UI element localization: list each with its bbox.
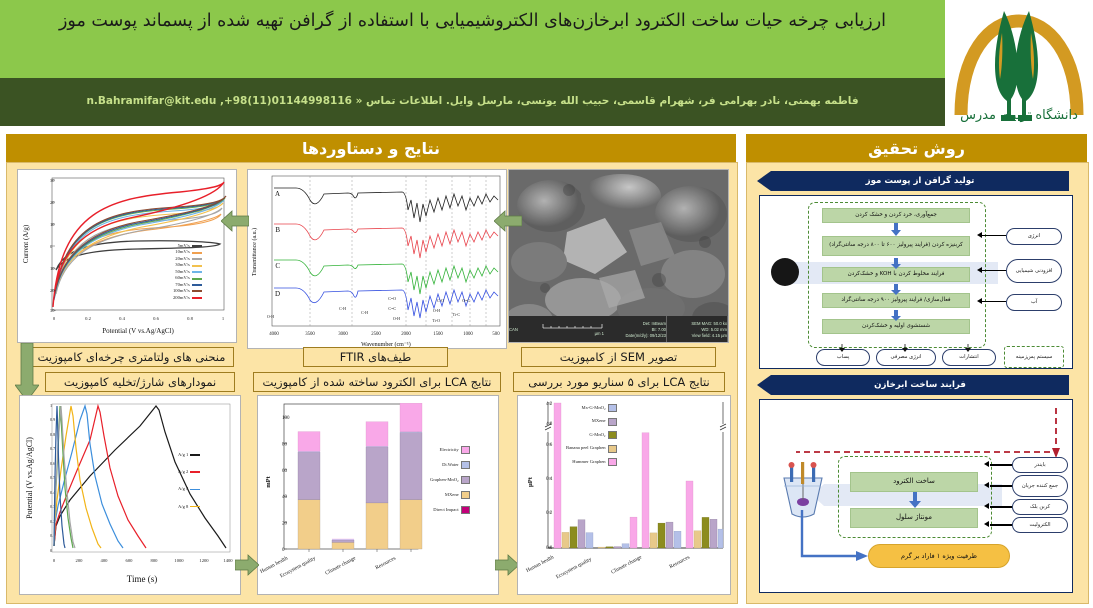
sem-scalebar-label: 1 µm: [542, 331, 604, 336]
caption-gcd: نمودارهای شارژ/تخلیه کامپوزیت: [45, 372, 235, 392]
ftir-trace-label: A: [275, 190, 280, 198]
sem-date: Date(m/d/y): 09/12/23: [606, 333, 666, 338]
cv-chart-card: 302010 0-10-20-30 00.20.4 0.60.81 Potent…: [17, 169, 237, 343]
flow-sc-arrowhead-4: [984, 521, 989, 527]
caption-ftir: طیف‌های FTIR: [303, 347, 448, 367]
flow-input-binder: بایندر: [1012, 457, 1068, 473]
sem-viewfield: View field: 4.15 µm: [669, 333, 727, 338]
flow-step-graphene-1: جمع‌آوری، خرد کردن و خشک کردن: [822, 208, 970, 223]
svg-text:-30: -30: [50, 308, 56, 313]
cv-legend-label: 5mV/s: [178, 243, 190, 249]
poster-root: ارزیابی چرخه حیات ساخت الکترود ابرخازن‌ه…: [0, 0, 1093, 608]
legend-label: Electricity: [440, 447, 459, 453]
gcd-legend-item: 1 A/g: [178, 452, 200, 458]
flow-input-label: جمع کننده جریان: [1022, 483, 1058, 490]
section-title-method: روش تحقیق: [868, 139, 965, 158]
ftir-trace-label: C: [275, 262, 280, 270]
ftir-annotation: C-O: [437, 298, 444, 303]
caption-ftir-text: طیف‌های FTIR: [340, 350, 412, 364]
flow-step-label: ساخت الکترود: [893, 477, 935, 486]
svg-text:20: 20: [282, 522, 288, 527]
arrow-sem-to-ftir: [494, 208, 522, 239]
gcd-chart-card: 10.90.8 0.70.60.5 0.40.30.2 0.10: [19, 395, 241, 595]
sem-brand: MIRA3 TESCAN: [508, 327, 518, 332]
legend-label: MXene: [445, 492, 459, 498]
gcd-legend-label: 2 A/g: [178, 469, 188, 475]
lca-electrode-chart-card: 02040 6080100: [257, 395, 499, 595]
bar-ecosystem-quality: [332, 539, 354, 549]
results-panel: 302010 0-10-20-30 00.20.4 0.60.81 Potent…: [6, 162, 738, 604]
flow-sc-arrow-3: [990, 506, 1012, 508]
sem-det: Det: InBeam: [606, 321, 666, 326]
ftir-annotation: C=O: [388, 296, 396, 301]
svg-text:0.6: 0.6: [153, 316, 159, 321]
green-arrow-left-icon: [221, 208, 249, 234]
svg-text:2500: 2500: [371, 332, 381, 337]
flow-frame-graphene: جمع‌آوری، خرد کردن و خشک کردن کربنیزه کر…: [759, 195, 1073, 369]
lca-scenarios-chart-card: 4.24.0 0.60.4 0.20.0: [517, 395, 731, 595]
flow-arrow-g2: [890, 256, 902, 274]
cv-legend-item: 200mV/s: [173, 295, 202, 301]
flow-input-arrow-2: [982, 270, 1006, 271]
ftir-annotation: O-H: [433, 308, 440, 313]
legend-item: Di.Water: [430, 461, 470, 469]
gcd-legend-label: 4 A/g: [178, 486, 188, 492]
ftir-annotation: O-H: [393, 316, 400, 321]
flow-input-energy: انرژی: [1006, 228, 1062, 245]
legend-item: Hummer Graphen: [566, 458, 617, 466]
svg-text:0.6: 0.6: [50, 461, 55, 466]
section-banner-results: نتایج و دستاوردها: [6, 134, 736, 162]
cv-legend-item: 70mV/s: [173, 282, 202, 288]
caption-lca-electrode-text: نتایج LCA برای الکترود ساخته شده از کامپ…: [263, 375, 492, 389]
ftir-annotation: C-H: [361, 310, 368, 315]
cv-legend-label: 200mV/s: [173, 295, 190, 301]
gcd-legend-item: 8 A/g: [178, 504, 200, 510]
flow-arrow-g4: [890, 308, 902, 326]
ftir-trace-label: B: [275, 226, 280, 234]
caption-gcd-text: نمودارهای شارژ/تخلیه کامپوزیت: [64, 375, 216, 389]
svg-text:1400: 1400: [223, 558, 233, 563]
section-title-results: نتایج و دستاوردها: [302, 139, 440, 158]
flow-sc-arrowhead-1: [984, 461, 989, 467]
cv-legend-item: 5mV/s: [173, 243, 202, 249]
blue-down-arrow-icon: [890, 284, 902, 295]
legend-label: Di.Water: [442, 462, 459, 468]
logo-caption: دانشگاه تربیت مدرس: [960, 107, 1078, 123]
green-arrow-right-icon: [235, 553, 259, 577]
cv-legend-label: 50mV/s: [175, 269, 190, 275]
blue-down-arrow-icon: [890, 258, 902, 269]
legend-item: MXene: [430, 491, 470, 499]
flow-title-graphene-text: تولید گرافن از پوست موز: [866, 176, 975, 186]
caption-lca-scenarios-text: نتایج LCA برای ۵ سناریو مورد بررسی: [528, 375, 709, 389]
legend-item: Mx-G-MnO₂: [566, 404, 617, 412]
caption-cv-text: منحنی های ولتامتری چرخه‌ای کامپوزیت: [38, 350, 226, 364]
legend-item: Electricity: [430, 446, 470, 454]
legend-item: Banana peel Graphen: [566, 445, 617, 453]
legend-label: G-MnO₂: [589, 432, 605, 438]
lca-electrode-ylabel: mPt: [265, 475, 272, 487]
svg-text:500: 500: [492, 332, 500, 337]
lca-scenarios-chart-svg: 4.24.0 0.60.4 0.20.0: [518, 396, 730, 594]
svg-text:0.9: 0.9: [50, 417, 55, 422]
svg-text:-20: -20: [50, 288, 56, 293]
svg-text:600: 600: [126, 558, 134, 563]
svg-text:4000: 4000: [269, 332, 279, 337]
flow-sc-arrowhead-3: [984, 503, 989, 509]
flow-step-supercap-1: ساخت الکترود: [850, 472, 978, 492]
flow-step-label: کربنیزه کردن (فرایند پیرولیز ۶۰۰ تا ۸۰۰ …: [829, 242, 963, 250]
legend-item: MXene: [566, 418, 617, 426]
lca-scenarios-ylabel: µPt: [527, 476, 534, 487]
legend-label: MXene: [592, 418, 606, 424]
flow-input-label: انرژی: [1028, 233, 1040, 240]
gcd-xlabel: Time (s): [127, 574, 157, 584]
flow-sc-arrow-2: [990, 485, 1012, 487]
cv-legend: 5mV/s 10mV/s 20mV/s 30mV/s 50mV/s 60mV/s…: [173, 243, 202, 301]
flow-arrow-g3: [890, 282, 902, 300]
svg-text:200: 200: [76, 558, 84, 563]
flow-sc-arrow-4: [990, 524, 1012, 526]
flow-input-chemical: افزودنی شیمیایی: [1006, 259, 1062, 283]
sem-image-card: SEM MAG: 50.0 kx WD: 5.02 mm View field:…: [508, 169, 729, 343]
svg-text:0.8: 0.8: [50, 432, 55, 437]
flow-input-carbon-black: کربن بلک: [1012, 499, 1068, 515]
flow-title-supercap-arrow: [757, 375, 771, 395]
svg-text:3500: 3500: [305, 332, 315, 337]
sem-bi: BI: 7.00: [606, 327, 666, 332]
cv-legend-item: 10mV/s: [173, 249, 202, 255]
green-arrow-down-icon: [15, 343, 39, 401]
ftir-annotation: O-H: [267, 314, 274, 319]
graphene-product-node-icon: [768, 256, 802, 290]
gcd-chart-svg: 10.90.8 0.70.60.5 0.40.30.2 0.10: [20, 396, 240, 594]
flow-step-label: جمع‌آوری، خرد کردن و خشک کردن: [855, 212, 937, 220]
arrow-to-lca-scenarios: [495, 553, 519, 582]
svg-text:60: 60: [282, 469, 288, 474]
legend-label: Mx-G-MnO₂: [581, 405, 605, 411]
flow-title-supercap: فرایند ساخت ابرخازن: [771, 375, 1069, 395]
gcd-legend-label: 1 A/g: [178, 452, 188, 458]
legend-label: Direct Impact: [433, 507, 458, 513]
flow-input-arrowhead-1: [977, 232, 982, 238]
flow-input-arrow-3: [982, 301, 1006, 302]
svg-text:0: 0: [50, 548, 52, 553]
flow-result-label: ظرفیت ویژه ۱ فاراد بر گرم: [901, 552, 977, 560]
flow-input-current-collector: جمع کننده جریان: [1012, 475, 1068, 497]
bar-resources: [400, 403, 422, 549]
legend-item: Graphen-MnO₂: [430, 476, 470, 484]
flow-subsystem-legend: سیستم پس‌زمینه: [1004, 346, 1064, 368]
blue-down-arrow-icon: [890, 310, 902, 321]
flow-input-water: آب: [1006, 294, 1062, 311]
sem-info-bar: SEM MAG: 50.0 kx WD: 5.02 mm View field:…: [509, 316, 728, 342]
arrow-ftir-to-cv: [221, 208, 249, 239]
cv-legend-item: 20mV/s: [173, 256, 202, 262]
ftir-annotation: Ti-C: [453, 312, 461, 317]
flow-input-label: بایندر: [1034, 462, 1045, 469]
flow-title-graphene: تولید گرافن از پوست موز: [771, 171, 1069, 191]
legend-label: Banana peel Graphen: [566, 445, 606, 451]
ftir-annotation: Ti-O: [432, 318, 440, 323]
flow-input-arrowhead-3: [977, 298, 982, 304]
cv-legend-label: 30mV/s: [175, 262, 190, 268]
method-panel: تولید گرافن از پوست موز جمع‌آوری، خرد کر…: [746, 162, 1089, 604]
flow-sc-arrow-1: [990, 464, 1012, 466]
cv-ylabel: Current (A/g): [22, 224, 30, 263]
arrow-to-lca-electrode: [235, 553, 259, 582]
ftir-chart-svg: A B C D O-H C-H C-H C=O C=C O-H C-: [248, 170, 506, 348]
ftir-chart-card: A B C D O-H C-H C-H C=O C=C O-H C-: [247, 169, 507, 349]
lca-scenarios-legend: Mx-G-MnO₂ MXene G-MnO₂ Banana peel Graph…: [566, 404, 617, 466]
svg-text:400: 400: [101, 558, 109, 563]
cv-xlabel: Potential (V vs.Ag/AgCl): [102, 327, 174, 335]
gcd-legend-item: 2 A/g: [178, 469, 200, 475]
legend-item: G-MnO₂: [566, 431, 617, 439]
svg-text:800: 800: [151, 558, 159, 563]
cv-legend-item: 100mV/s: [173, 288, 202, 294]
flow-input-label: الکترولیت: [1029, 522, 1050, 529]
lca-electrode-legend: Electricity Di.Water Graphen-MnO₂ MXene …: [430, 446, 470, 514]
legend-item: Direct Impact: [430, 506, 470, 514]
cv-legend-label: 10mV/s: [175, 249, 190, 255]
blue-down-arrow-icon: [908, 492, 922, 508]
svg-text:1000: 1000: [174, 558, 184, 563]
poster-authors: فاطمه بهمنی، نادر بهرامی فر، شهرام قاسمی…: [76, 95, 868, 109]
legend-label: Graphen-MnO₂: [430, 477, 459, 483]
svg-text:1500: 1500: [433, 332, 443, 337]
flow-frame-supercap: ساخت الکترود مونتاژ سلول بایندر جمع کنند…: [759, 399, 1073, 593]
poster-title: ارزیابی چرخه حیات ساخت الکترود ابرخازن‌ه…: [45, 0, 900, 34]
cv-chart-svg: 302010 0-10-20-30 00.20.4 0.60.81 Potent…: [18, 170, 236, 342]
svg-text:-10: -10: [50, 266, 56, 271]
cv-legend-label: 20mV/s: [175, 256, 190, 262]
flow-sc-arrowhead-2: [984, 482, 989, 488]
cv-legend-label: 100mV/s: [173, 288, 190, 294]
caption-sem: تصویر SEM از کامپوزیت: [521, 347, 716, 367]
flow-output-connectors: [810, 336, 1010, 356]
svg-text:0.8: 0.8: [187, 316, 193, 321]
svg-text:1: 1: [50, 403, 52, 408]
svg-text:2000: 2000: [401, 332, 411, 337]
ftir-ylabel: Transmittance (a.u.): [251, 228, 258, 276]
caption-lca-scenarios: نتایج LCA برای ۵ سناریو مورد بررسی: [513, 372, 725, 392]
flow-title-graphene-arrow: [757, 171, 771, 191]
gcd-legend-label: 8 A/g: [178, 504, 188, 510]
caption-sem-text: تصویر SEM از کامپوزیت: [560, 350, 677, 364]
svg-text:0.4: 0.4: [119, 316, 125, 321]
bar-human-health: [298, 432, 320, 549]
cv-legend-item: 60mV/s: [173, 275, 202, 281]
gcd-legend-item: 4 A/g: [178, 486, 200, 492]
flow-title-supercap-text: فرایند ساخت ابرخازن: [874, 380, 966, 390]
flow-subsystem-label: سیستم پس‌زمینه: [1016, 354, 1052, 361]
poster-title-bar: ارزیابی چرخه حیات ساخت الکترود ابرخازن‌ه…: [0, 0, 945, 78]
legend-label: Hummer Graphen: [572, 459, 605, 465]
gcd-legend: 1 A/g 2 A/g 4 A/g 8 A/g: [178, 452, 200, 510]
flow-input-label: کربن بلک: [1030, 504, 1050, 511]
section-banner-method: روش تحقیق: [746, 134, 1087, 162]
flow-input-label: آب: [1031, 299, 1037, 306]
university-logo: دانشگاه تربیت مدرس: [945, 0, 1093, 126]
flow-input-arrowhead-2: [977, 267, 982, 273]
svg-text:1200: 1200: [199, 558, 209, 563]
ftir-trace-label: D: [275, 290, 280, 298]
sem-wd: WD: 5.02 mm: [669, 327, 727, 332]
sem-mag: SEM MAG: 50.0 kx: [669, 321, 727, 326]
cv-legend-item: 30mV/s: [173, 262, 202, 268]
cv-legend-label: 70mV/s: [175, 282, 190, 288]
flow-arrow-g1: [890, 223, 902, 241]
cv-legend-item: 50mV/s: [173, 269, 202, 275]
flow-input-arrow-1: [982, 235, 1006, 236]
gcd-ylabel: Potential (V vs.Ag/AgCl): [25, 437, 34, 519]
flow-input-electrolyte: الکترولیت: [1012, 517, 1068, 533]
ftir-annotation: O=C: [462, 298, 470, 303]
cv-legend-label: 60mV/s: [175, 275, 190, 281]
svg-text:3000: 3000: [338, 332, 348, 337]
svg-text:1000: 1000: [463, 332, 473, 337]
poster-authors-bar: فاطمه بهمنی، نادر بهرامی فر، شهرام قاسمی…: [0, 78, 945, 126]
bar-climate-change: [366, 422, 388, 549]
tarbiat-modares-logo-icon: دانشگاه تربیت مدرس: [949, 3, 1089, 123]
svg-text:0.2: 0.2: [85, 316, 91, 321]
flow-input-label: افزودنی شیمیایی: [1016, 268, 1053, 275]
caption-lca-electrode: نتایج LCA برای الکترود ساخته شده از کامپ…: [253, 372, 501, 392]
ftir-annotation: C-H: [339, 306, 346, 311]
green-arrow-right-icon: [495, 553, 519, 577]
green-arrow-left-icon: [494, 208, 522, 234]
blue-down-arrow-icon: [890, 223, 902, 236]
sem-scalebar-icon: [542, 323, 604, 330]
ftir-annotation: C=C: [388, 306, 396, 311]
caption-cv: منحنی های ولتامتری چرخه‌ای کامپوزیت: [29, 347, 234, 367]
flow-result-capacity: ظرفیت ویژه ۱ فاراد بر گرم: [868, 544, 1010, 568]
svg-text:0.7: 0.7: [50, 446, 55, 451]
